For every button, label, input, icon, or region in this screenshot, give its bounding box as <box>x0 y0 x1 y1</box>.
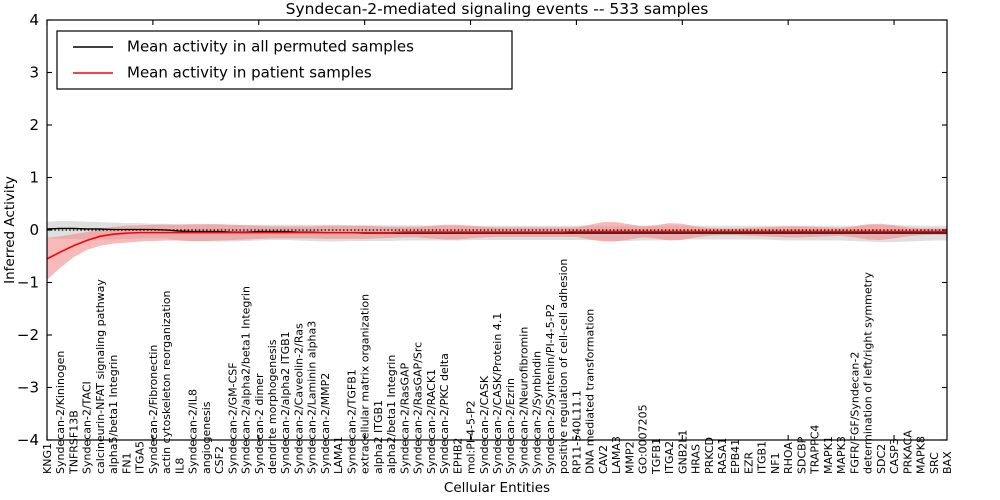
x-tick-label: Syndecan-2/Syntenin/PI-4-5-P2 <box>544 304 557 474</box>
x-tick-label: LAMA3 <box>610 436 623 474</box>
y-axis-title: Inferred Activity <box>2 176 18 284</box>
y-tick-label: −4 <box>17 431 39 449</box>
x-tick-label: FGFR/FGF/Syndecan-2 <box>848 352 861 474</box>
x-tick-label: Syndecan-2/RACK1 <box>425 369 438 474</box>
x-tick-label: EPHB2 <box>451 438 464 474</box>
x-tick-label: EZR <box>742 452 755 474</box>
x-tick-label: Syndecan-2/MMP2 <box>319 373 332 474</box>
x-tick-label: Syndecan-2/RasGAP/Src <box>412 342 425 474</box>
x-tick-label: GNB2L1 <box>676 430 689 474</box>
x-tick-label: Syndecan-2/PKC delta <box>438 353 451 474</box>
x-tick-label: Syndecan-2/Synbindin <box>531 351 544 474</box>
x-tick-label: Syndecan-2/Fibronectin <box>147 345 160 474</box>
legend-label-0: Mean activity in all permuted samples <box>127 38 414 56</box>
chart-title: Syndecan-2-mediated signaling events -- … <box>286 0 709 18</box>
y-tick-label: −3 <box>17 379 39 397</box>
y-tick-label: −1 <box>17 274 39 292</box>
y-tick-label: 2 <box>29 116 39 134</box>
x-tick-label: HRAS <box>690 444 703 474</box>
x-tick-label: Syndecan-2/Laminin alpha3 <box>306 321 319 474</box>
x-tick-label: MMP2 <box>623 441 636 474</box>
x-tick-label: positive regulation of cell-cell adhesio… <box>557 259 570 474</box>
x-tick-label: EPB41 <box>729 439 742 474</box>
x-tick-label: extracellular matrix organization <box>359 294 372 474</box>
x-tick-label: GO:0007205 <box>637 404 650 474</box>
x-tick-label: SDC2 <box>875 444 888 474</box>
x-tick-label: CSF2 <box>213 446 226 474</box>
x-tick-label: RP11-540L11.1 <box>570 390 583 474</box>
x-tick-label: NF1 <box>769 452 782 474</box>
x-tick-label: alpha2/beta1 Integrin <box>385 355 398 474</box>
x-tick-label: TRAPPC4 <box>809 425 822 475</box>
x-tick-label: Syndecan-2/Neurofibromin <box>517 327 530 474</box>
y-tick-label: 0 <box>29 221 39 239</box>
x-tick-label: SDCBP <box>795 436 808 474</box>
x-tick-label: ITGA2 <box>663 441 676 474</box>
x-tick-label: RHOA <box>782 442 795 474</box>
x-tick-label: alpha5/beta1 Integrin <box>107 355 120 474</box>
y-tick-label: 3 <box>29 64 39 82</box>
y-tick-label: 1 <box>29 169 39 187</box>
x-tick-label: IL8 <box>173 458 186 474</box>
x-tick-label: Syndecan-2/Caveolin-2/Ras <box>292 323 305 474</box>
x-tick-label: Syndecan-2/alpha2/beta1 Integrin <box>240 286 253 474</box>
x-tick-label: Syndecan-2/IL8 <box>187 389 200 474</box>
x-axis-title: Cellular Entities <box>444 480 550 496</box>
x-tick-label: Syndecan-2/CASK <box>478 375 491 474</box>
chart-canvas: −4−3−2−101234KNG1Syndecan-2/KininogenTNF… <box>0 0 1000 500</box>
x-tick-label: MAPK3 <box>835 436 848 474</box>
x-tick-label: LAMA1 <box>332 436 345 474</box>
x-tick-label: CASP3 <box>888 438 901 474</box>
x-tick-label: MAPK1 <box>822 436 835 474</box>
y-tick-label: 4 <box>29 11 39 29</box>
x-tick-label: angiogenesis <box>200 401 213 474</box>
x-tick-label: KNG1 <box>41 443 54 474</box>
x-tick-label: BAX <box>941 451 954 474</box>
x-tick-label: ITGB1 <box>756 441 769 474</box>
x-tick-label: mol:PI-4-5-P2 <box>465 400 478 474</box>
x-tick-label: Syndecan-2/TGFB1 <box>345 369 358 474</box>
x-tick-label: alpha2 ITGB1 <box>372 400 385 474</box>
x-tick-label: RASA1 <box>716 438 729 474</box>
x-tick-label: FN1 <box>120 452 133 474</box>
x-tick-label: Syndecan-2/RasGAP <box>398 362 411 474</box>
x-tick-label: Syndecan-2/Ezrin <box>504 378 517 474</box>
x-tick-label: PRKCD <box>703 437 716 474</box>
x-tick-label: TGFB1 <box>650 438 663 475</box>
x-tick-label: DNA mediated transformation <box>584 309 597 474</box>
x-tick-label: SRC <box>928 452 941 474</box>
x-tick-label: Syndecan-2/Kininogen <box>54 351 67 474</box>
x-tick-label: CAV2 <box>597 445 610 474</box>
x-tick-label: determination of left/right symmetry <box>862 272 875 474</box>
x-tick-label: PRKACA <box>901 430 914 474</box>
x-tick-label: Syndecan-2/alpha2 ITGB1 <box>279 331 292 474</box>
legend-label-1: Mean activity in patient samples <box>127 64 372 82</box>
x-tick-label: dendrite morphogenesis <box>266 339 279 474</box>
x-tick-label: actin cytoskeleton reorganization <box>160 290 173 474</box>
x-tick-label: Syndecan-2/TACI <box>81 381 94 474</box>
x-tick-label: Syndecan-2/GM-CSF <box>226 362 239 474</box>
x-tick-label: MAPK8 <box>915 436 928 474</box>
x-tick-label: Syndecan-2/CASK/Protein 4.1 <box>491 313 504 474</box>
x-tick-label: calcineurin-NFAT signaling pathway <box>94 279 107 474</box>
x-tick-label: ITGA5 <box>134 441 147 474</box>
y-tick-label: −2 <box>17 326 39 344</box>
chart-figure: −4−3−2−101234KNG1Syndecan-2/KininogenTNF… <box>0 0 1000 500</box>
x-tick-label: Syndecan-2 dimer <box>253 373 266 474</box>
x-tick-label: TNFRSF13B <box>67 410 80 475</box>
